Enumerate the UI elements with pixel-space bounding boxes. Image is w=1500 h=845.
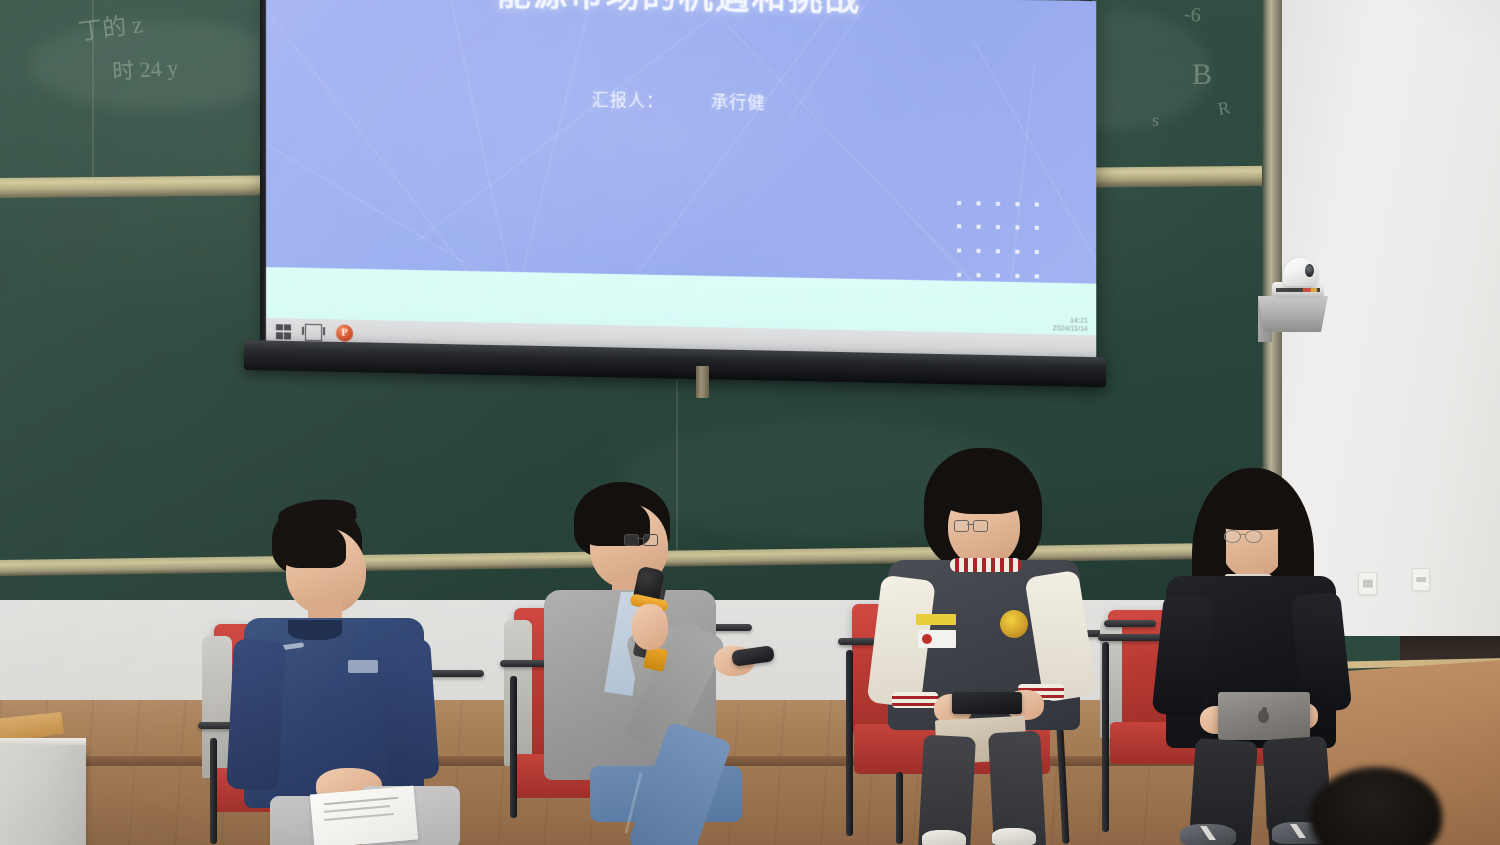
presentation-slide: 能源市场的机遇和挑战 汇报人：承行健 14:21 2024/11/14 P <box>266 0 1096 362</box>
powerpoint-icon[interactable]: P <box>336 324 353 341</box>
chalk-mark: R <box>1216 97 1231 120</box>
glasses-icon <box>1224 530 1272 542</box>
glasses-icon <box>624 534 668 546</box>
hand-holding-mic <box>632 604 668 650</box>
camera-lens-icon <box>1305 264 1314 277</box>
tablet[interactable] <box>952 692 1022 714</box>
presenter-name: 承行健 <box>711 93 766 114</box>
presenter-label: 汇报人： <box>592 91 665 112</box>
jacket-crest <box>1000 610 1028 638</box>
student-2 <box>528 480 788 845</box>
student-1 <box>228 500 468 845</box>
bangs <box>940 472 1028 514</box>
screen-support-post <box>696 366 709 398</box>
camera-indicator-strip <box>1276 288 1320 292</box>
classroom-scene: 丁的 z 时 24 y -6 B s R <box>0 0 1500 845</box>
task-view-icon[interactable] <box>305 323 322 340</box>
camera-bracket <box>1258 296 1328 332</box>
shoe-left <box>922 830 966 845</box>
collar-stripe <box>950 558 1022 572</box>
glasses-icon <box>954 520 998 532</box>
floor-speaker <box>0 745 86 845</box>
system-clock: 14:21 2024/11/14 <box>1053 317 1088 335</box>
leg-left <box>918 735 976 845</box>
start-icon[interactable] <box>276 324 291 339</box>
slide-background-top <box>266 0 1096 284</box>
chalk-mark: -6 <box>1183 3 1202 28</box>
light-switch[interactable] <box>1412 568 1430 591</box>
jacket-patch-yellow <box>916 614 956 625</box>
projection-screen-assembly: 能源市场的机遇和挑战 汇报人：承行健 14:21 2024/11/14 P <box>244 0 1110 400</box>
shoe-right <box>992 828 1036 845</box>
projection-screen: 能源市场的机遇和挑战 汇报人：承行健 14:21 2024/11/14 P <box>266 0 1096 362</box>
